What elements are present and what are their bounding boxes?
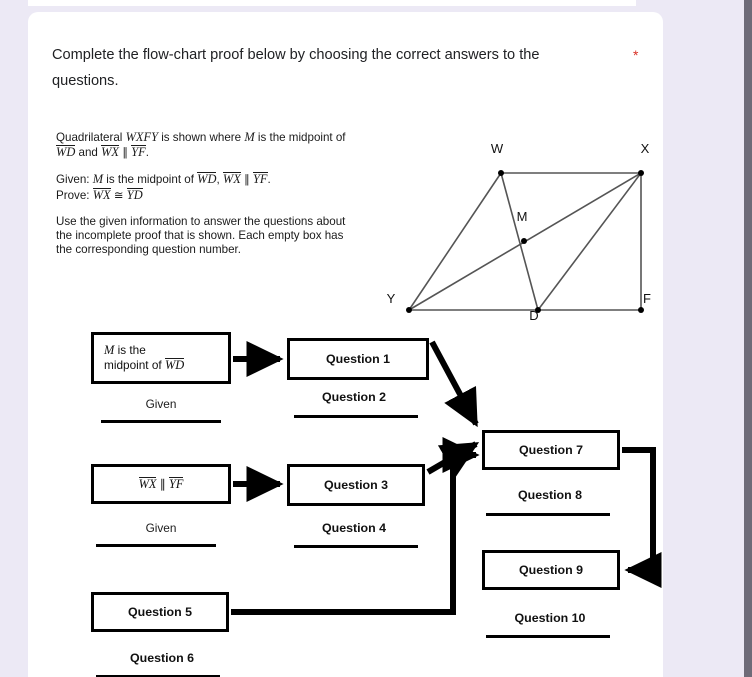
figure-point-W (498, 170, 504, 176)
figure-label-W: W (491, 141, 504, 156)
figure-label-Y: Y (387, 291, 396, 306)
figure-label-F: F (643, 291, 651, 306)
geometry-svg: WXMYDF (358, 138, 663, 334)
geometry-figure: WXMYDF (358, 138, 663, 334)
flow-box-question-5[interactable]: Question 5 (91, 592, 229, 632)
flow-box-question-9[interactable]: Question 9 (482, 550, 620, 590)
flow-box-question-7-label: Question 7 (485, 443, 617, 458)
scrollbar-track[interactable] (744, 0, 752, 677)
reason-10-underline (486, 635, 610, 638)
required-marker: * (633, 48, 638, 62)
flow-box-question-3[interactable]: Question 3 (287, 464, 425, 506)
flow-box-question-3-label: Question 3 (290, 478, 422, 493)
reason-2-underline (294, 415, 418, 418)
reason-2[interactable]: Question 2 (290, 390, 418, 404)
given-prove-block: Given: M is the midpoint of WD, WX ∥ YF.… (56, 172, 356, 202)
reason-3-underline (96, 544, 216, 547)
flow-box-question-9-label: Question 9 (485, 563, 617, 578)
reason-4-underline (294, 545, 418, 548)
reason-4[interactable]: Question 4 (290, 521, 418, 535)
reason-6[interactable]: Question 6 (98, 651, 226, 665)
flow-box-question-5-label: Question 5 (94, 605, 226, 620)
question-card: Complete the flow-chart proof below by c… (28, 12, 663, 677)
quad-name: WXFY (126, 130, 158, 144)
reason-1-underline (101, 420, 221, 423)
flow-box-statement-2-text: WX ∥ YF (94, 477, 228, 492)
flowchart-proof: M is the midpoint of WD Question 1 WX ∥ … (28, 312, 663, 677)
statement-paragraph-3: Use the given information to answer the … (56, 215, 356, 258)
reason-3: Given (101, 521, 221, 535)
card-top-strip (28, 0, 636, 6)
flow-box-question-1[interactable]: Question 1 (287, 338, 429, 380)
figure-segment-WD (501, 173, 538, 310)
scrollbar-thumb[interactable] (744, 0, 752, 677)
figure-segment-WY (409, 173, 501, 310)
flow-box-statement-2[interactable]: WX ∥ YF (91, 464, 231, 504)
screenshot-viewport: Complete the flow-chart proof below by c… (0, 0, 752, 677)
reason-1: Given (101, 397, 221, 411)
page-title: Complete the flow-chart proof below by c… (52, 42, 592, 94)
reason-10[interactable]: Question 10 (483, 611, 617, 625)
statement-paragraph-1: Quadrilateral WXFY is shown where M is t… (56, 130, 356, 160)
reason-8[interactable]: Question 8 (483, 488, 617, 502)
arrow-q7-to-q9 (622, 450, 653, 570)
flow-box-statement-1[interactable]: M is the midpoint of WD (91, 332, 231, 384)
figure-segment-DX (538, 173, 641, 310)
figure-point-M (521, 238, 527, 244)
problem-statement: Quadrilateral WXFY is shown where M is t… (56, 130, 356, 257)
reason-8-underline (486, 513, 610, 516)
figure-label-X: X (641, 141, 650, 156)
flow-box-statement-1-text: M is the midpoint of WD (94, 343, 228, 373)
figure-point-X (638, 170, 644, 176)
arrow-q1-to-q7 (432, 342, 476, 424)
figure-label-M: M (517, 209, 528, 224)
flow-box-question-1-label: Question 1 (290, 352, 426, 367)
flow-box-question-7[interactable]: Question 7 (482, 430, 620, 470)
